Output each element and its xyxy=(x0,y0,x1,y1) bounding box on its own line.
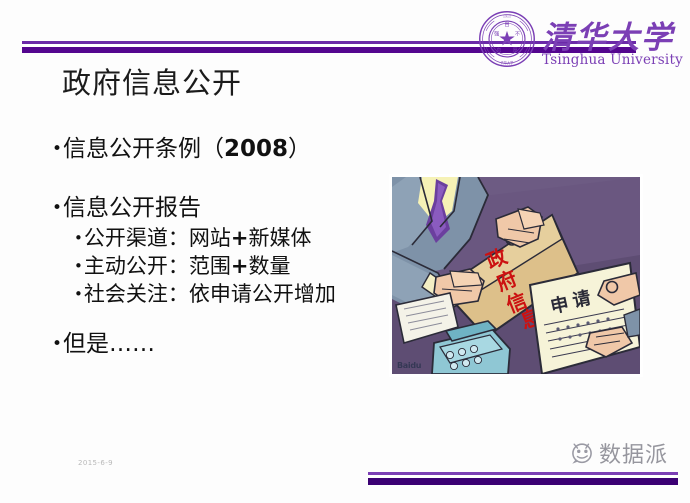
sub-bullet-proactive-a: 范围 xyxy=(189,254,231,278)
sub-bullet-proactive-label: 主动公开： xyxy=(84,254,189,278)
bullet-regulation-year: 2008 xyxy=(224,136,288,162)
bullet-regulation-text: 信息公开条例（ xyxy=(63,136,224,162)
illustration-image: 政 府 信 息 xyxy=(389,174,643,377)
logo-name-en: Tsinghua University xyxy=(542,52,683,68)
sub-bullet-proactive-b: 数量 xyxy=(248,254,290,278)
sub-bullet-public-interest-label: 社会关注： xyxy=(84,282,189,306)
bullet-report-text: 信息公开报告 xyxy=(63,195,201,221)
footer-rule-bottom xyxy=(368,478,678,485)
slide-date: 2015-6-9 xyxy=(78,459,113,467)
chat-face-icon xyxy=(569,439,595,465)
bullet-regulation: •信息公开条例（2008） xyxy=(52,136,382,163)
illustration-artwork: 政 府 信 息 xyxy=(392,177,640,374)
slide-canvas: 自 强 不 息 厚 1911 清华大学 清华大学 Tsinghua Univer… xyxy=(0,0,690,503)
bullet-marker: • xyxy=(74,257,83,275)
tsinghua-logo: 自 强 不 息 厚 1911 清华大学 清华大学 Tsinghua Univer… xyxy=(478,8,663,76)
sub-bullet-channel: •公开渠道：网站+新媒体 xyxy=(74,225,382,253)
sub-bullet-proactive-op: + xyxy=(231,254,249,278)
sub-bullet-channel-a: 网站 xyxy=(189,226,231,250)
logo-name-cn: 清华大学 xyxy=(542,12,674,57)
bullet-marker: • xyxy=(52,139,62,159)
bullet-marker: • xyxy=(52,198,62,218)
svg-text:1911: 1911 xyxy=(503,15,511,19)
watermark-text: 数据派 xyxy=(599,437,668,469)
svg-text:清华大学: 清华大学 xyxy=(501,60,514,65)
bullet-marker: • xyxy=(74,229,83,247)
bullet-marker: • xyxy=(74,285,83,303)
bullet-report: •信息公开报告 xyxy=(52,195,382,222)
sub-bullet-public-interest-a: 依申请公开增加 xyxy=(189,282,336,306)
sub-bullet-channel-b: 新媒体 xyxy=(248,226,311,250)
sub-bullet-channel-label: 公开渠道： xyxy=(84,226,189,250)
bullet-spacer xyxy=(52,165,382,195)
bullet-however: •但是…… xyxy=(52,331,382,358)
svg-text:厚: 厚 xyxy=(513,47,518,54)
bullet-however-text: 但是…… xyxy=(63,331,155,357)
sub-bullet-channel-op: + xyxy=(231,226,249,250)
illustration-credit: Baidu xyxy=(397,361,421,370)
watermark: 数据派 xyxy=(569,436,681,468)
sub-bullet-list: •公开渠道：网站+新媒体 •主动公开：范围+数量 •社会关注：依申请公开增加 xyxy=(74,225,382,309)
bullet-regulation-tail: ） xyxy=(288,136,311,162)
svg-text:强: 强 xyxy=(494,31,500,38)
sub-bullet-public-interest: •社会关注：依申请公开增加 xyxy=(74,281,382,309)
bullet-marker: • xyxy=(52,334,62,354)
tsinghua-seal-icon: 自 强 不 息 厚 1911 清华大学 xyxy=(478,10,536,68)
svg-text:息: 息 xyxy=(496,46,501,54)
body-content: •信息公开条例（2008） •信息公开报告 •公开渠道：网站+新媒体 •主动公开… xyxy=(52,136,382,360)
svg-text:不: 不 xyxy=(515,31,520,38)
bullet-spacer xyxy=(52,309,382,331)
page-title: 政府信息公开 xyxy=(62,60,242,102)
sub-bullet-proactive: •主动公开：范围+数量 xyxy=(74,253,382,281)
